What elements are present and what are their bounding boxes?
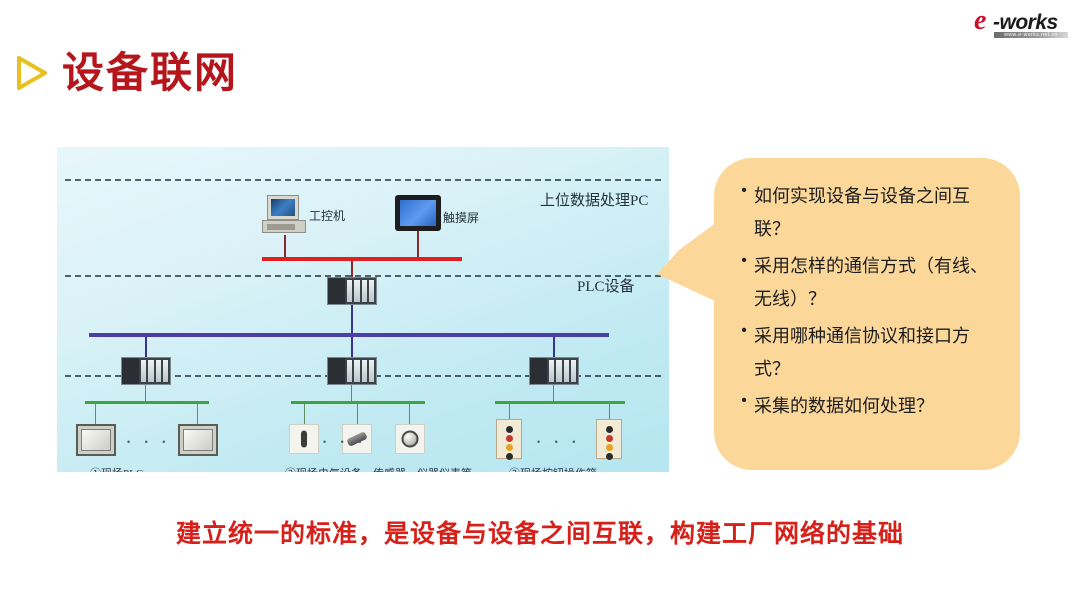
hmi-drop-line — [417, 231, 419, 257]
brand-logo-subtext: www.e-works.net.cn — [994, 32, 1068, 38]
cable-shape — [301, 431, 307, 448]
field-plc-device-1 — [76, 424, 116, 456]
field-bus-1 — [85, 401, 209, 404]
gauge-shape — [402, 431, 419, 448]
branch-drop-2 — [351, 337, 353, 359]
field-bus-2 — [291, 401, 425, 404]
pc-keyboard — [267, 224, 295, 230]
bullet-glyph: • — [734, 320, 754, 331]
brand-logo: e -works www.e-works.net.cn — [974, 6, 1070, 40]
field-drop-1 — [145, 385, 146, 401]
question-text-3: 采用哪种通信协议和接口方式？ — [754, 320, 1004, 386]
field-drop-2 — [351, 385, 352, 401]
field1-drop-b — [197, 404, 198, 424]
hmi-screen — [400, 200, 436, 226]
device-face — [81, 429, 111, 451]
plc-module-branch-3 — [529, 357, 579, 385]
pushbutton-box-1 — [496, 419, 522, 459]
plc-cpu — [530, 358, 547, 384]
device-label-touch-screen: 触摸屏 — [443, 209, 479, 226]
field-bus-3 — [495, 401, 625, 404]
industrial-pc-icon — [262, 195, 306, 235]
field2-drop-b — [357, 404, 358, 424]
zone-label-upper-pc: 上位数据处理PC — [540, 189, 648, 210]
branch-drop-1 — [145, 337, 147, 359]
plc-slots — [547, 358, 578, 384]
pc-monitor — [267, 195, 299, 220]
questions-callout: • 如何实现设备与设备之间互联？ • 采用怎样的通信方式（有线、无线）？ • 采… — [714, 158, 1020, 470]
gauge-instrument-icon — [395, 424, 425, 454]
pc-drop-line — [284, 235, 286, 257]
brand-logo-e: e — [974, 7, 986, 35]
zone-divider-top — [65, 179, 661, 181]
question-text-1: 如何实现设备与设备之间互联？ — [754, 180, 1004, 246]
bullet-glyph: • — [734, 180, 754, 191]
pc-base — [262, 220, 306, 233]
zone-label-plc: PLC设备 — [577, 275, 635, 296]
field1-drop-a — [95, 404, 96, 424]
bullet-glyph: • — [734, 390, 754, 401]
page-title: 设备联网 — [62, 50, 238, 96]
plc-slots — [345, 358, 376, 384]
ellipsis-group-3: • • • — [537, 437, 581, 447]
plc-slots — [345, 278, 376, 304]
field2-drop-a — [304, 404, 305, 424]
ellipsis-group-1: • • • — [127, 437, 171, 447]
play-triangle-icon — [14, 54, 48, 92]
branch-drop-3 — [553, 337, 555, 359]
list-item: • 采用怎样的通信方式（有线、无线）？ — [734, 250, 1004, 316]
group-caption-1: ①现场PLC — [90, 465, 143, 472]
plc-slots — [139, 358, 170, 384]
electrical-device-icon — [289, 424, 319, 454]
plc-module-branch-1 — [121, 357, 171, 385]
hmi-touch-panel-icon — [395, 195, 441, 231]
plc-bus-line — [89, 333, 609, 337]
question-text-4: 采集的数据如何处理？ — [754, 390, 934, 423]
slide-title-row: 设备联网 — [14, 50, 238, 96]
field-drop-3 — [553, 385, 554, 401]
plc-cpu — [328, 278, 345, 304]
pushbutton-box-2 — [596, 419, 622, 459]
upper-pc-bus-line — [262, 257, 462, 261]
plc-module-branch-2 — [327, 357, 377, 385]
group-caption-3: ③现场按钮操作箱 — [509, 465, 597, 472]
list-item: • 如何实现设备与设备之间互联？ — [734, 180, 1004, 246]
brand-logo-works: -works — [993, 12, 1058, 33]
group-caption-2: ②现场电气设备、传感器、仪器仪表等 — [285, 465, 472, 472]
plc-cpu — [122, 358, 139, 384]
field-plc-device-2 — [178, 424, 218, 456]
questions-list: • 如何实现设备与设备之间互联？ • 采用怎样的通信方式（有线、无线）？ • 采… — [734, 180, 1004, 427]
plc-to-bus-drop — [351, 305, 353, 333]
callout-pointer-icon — [657, 222, 717, 302]
ellipsis-group-2a: • • • — [323, 437, 367, 447]
field2-drop-c — [409, 404, 410, 424]
bus-to-plc-drop — [351, 261, 353, 277]
plc-module-main — [327, 277, 377, 305]
list-item: • 采集的数据如何处理？ — [734, 390, 1004, 423]
question-text-2: 采用怎样的通信方式（有线、无线）？ — [754, 250, 1004, 316]
plc-cpu — [328, 358, 345, 384]
network-topology-diagram: 上位数据处理PC PLC设备 工控机 触摸屏 — [57, 147, 669, 472]
summary-caption: 建立统一的标准，是设备与设备之间互联，构建工厂网络的基础 — [0, 518, 1080, 550]
list-item: • 采用哪种通信协议和接口方式？ — [734, 320, 1004, 386]
device-label-industrial-pc: 工控机 — [309, 207, 345, 224]
bullet-glyph: • — [734, 250, 754, 261]
pc-screen — [271, 199, 295, 216]
device-face — [183, 429, 213, 451]
